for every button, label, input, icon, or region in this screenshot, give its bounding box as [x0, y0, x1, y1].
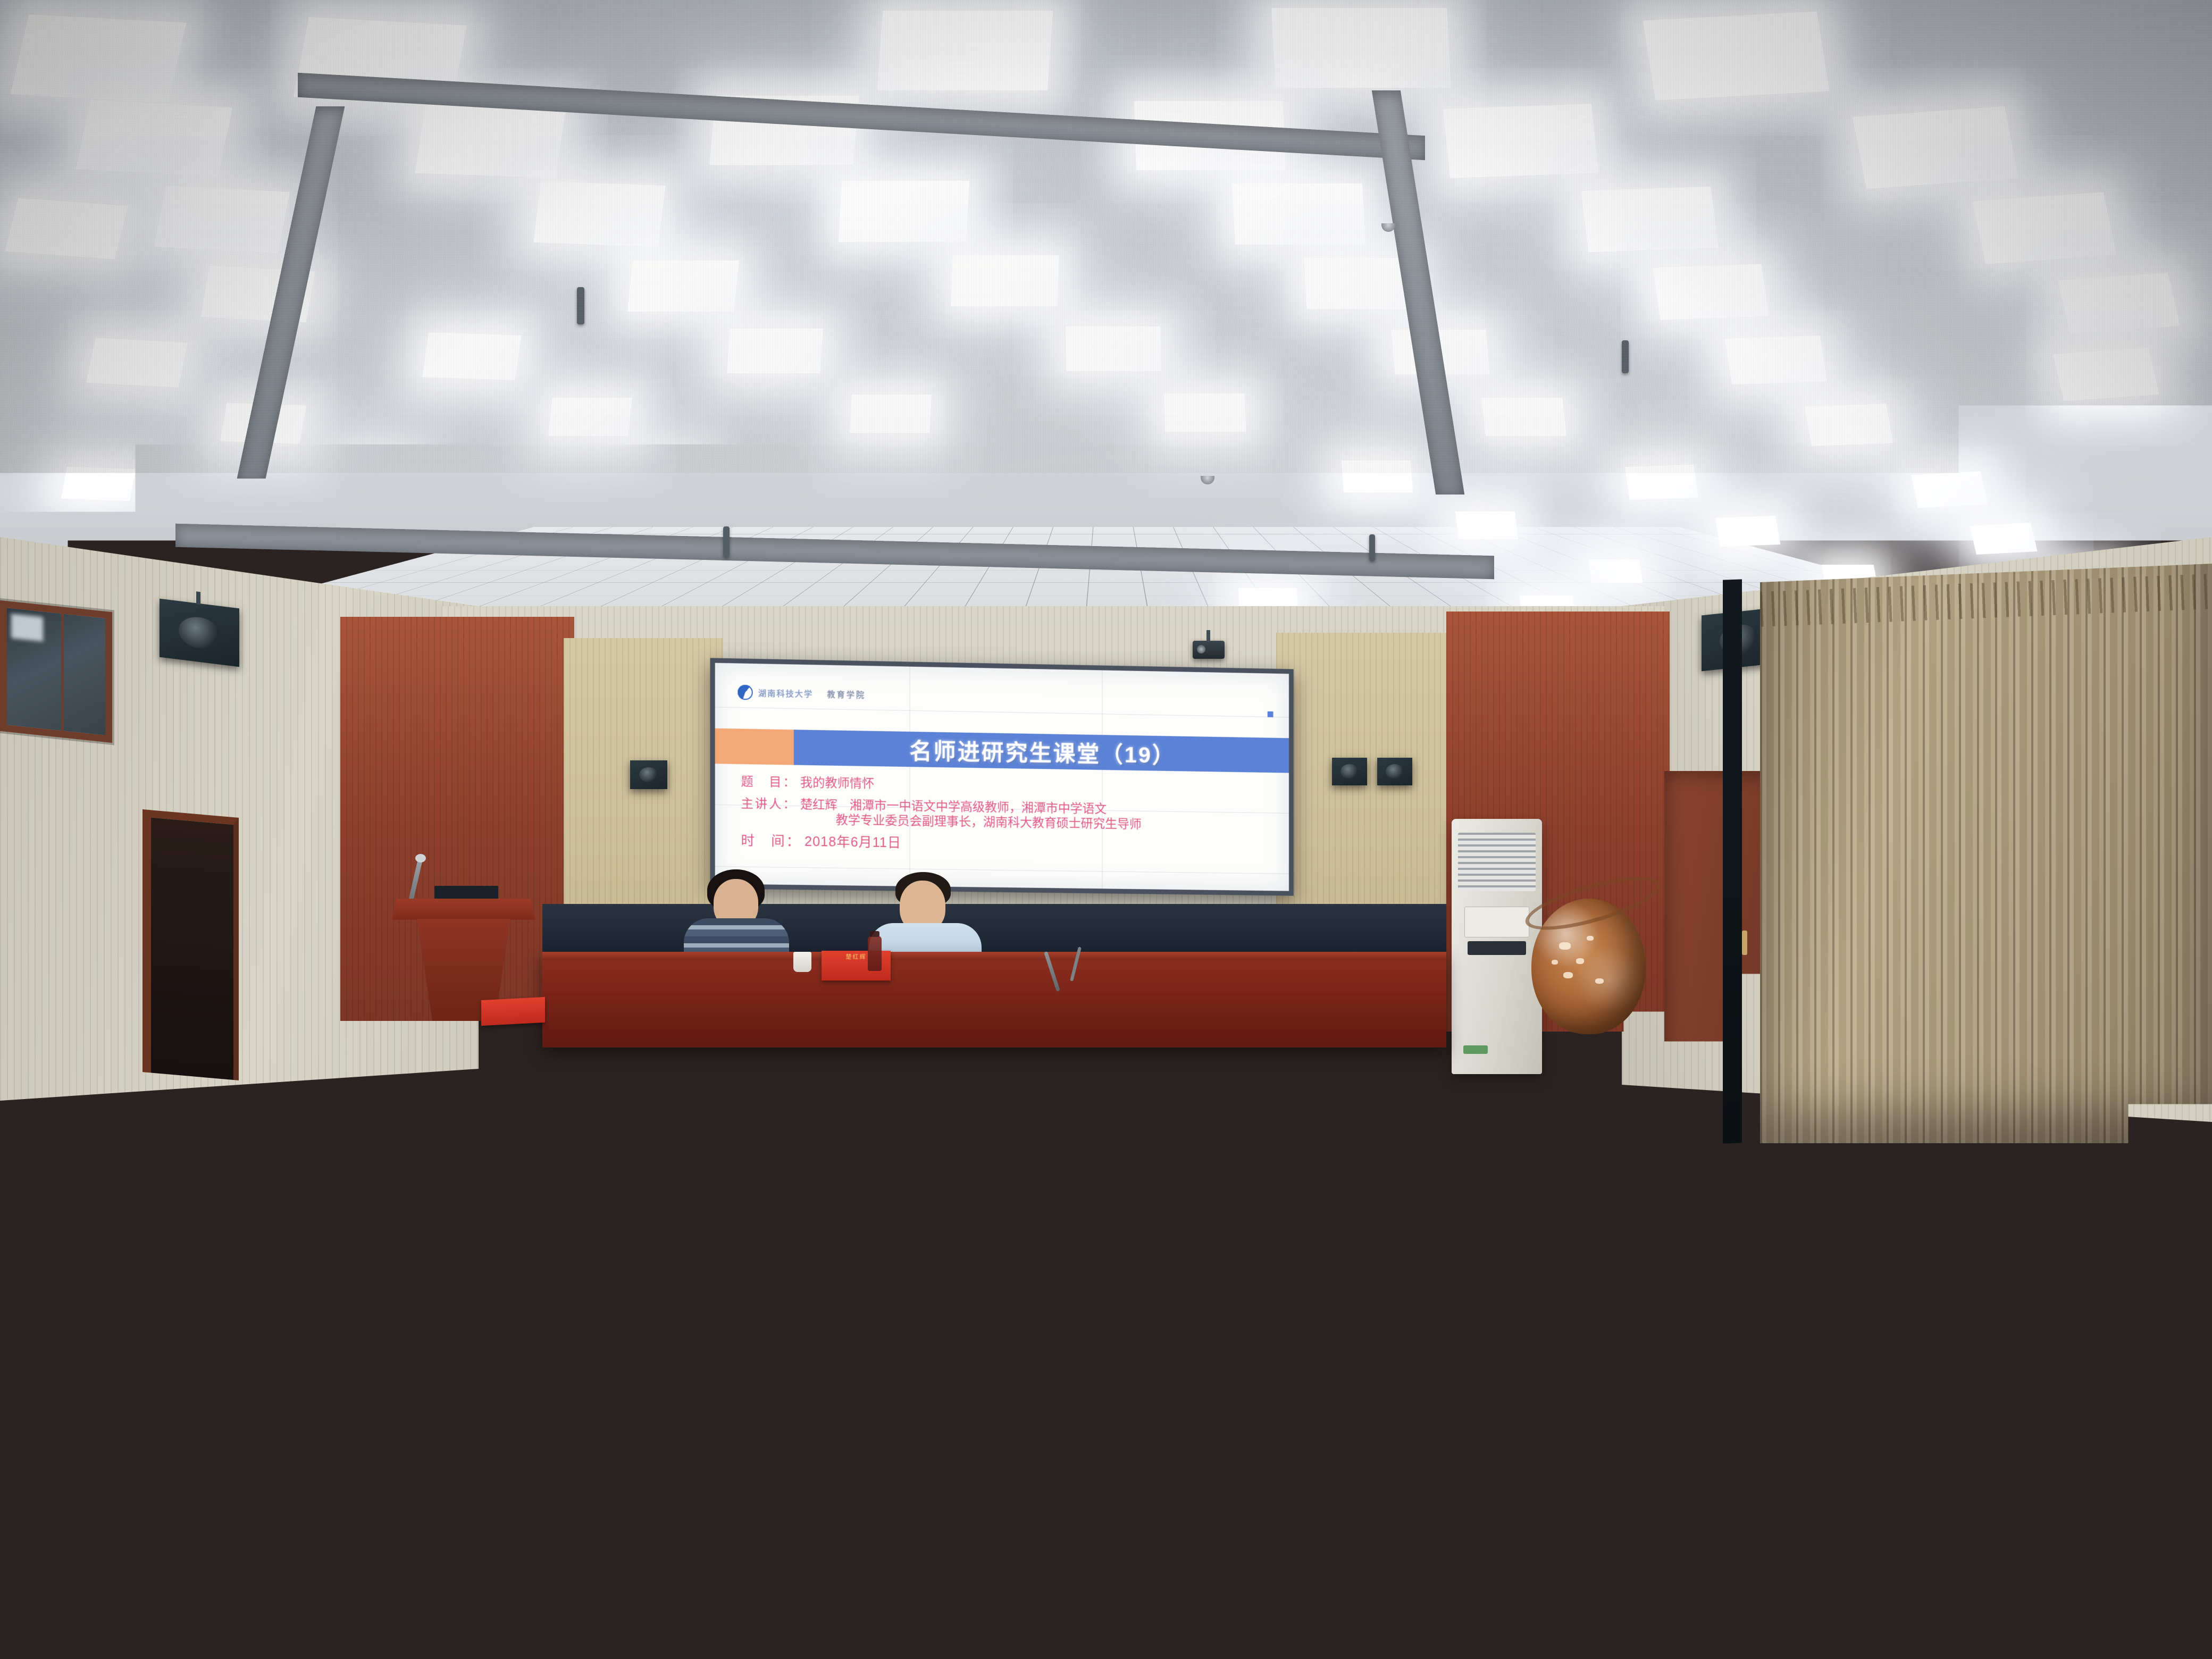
- student: [125, 974, 176, 1035]
- stage-speaker-right-b: [1377, 758, 1412, 785]
- ceiling-lamp: [1970, 523, 2037, 555]
- ceiling-sprinkler-icon: [577, 287, 584, 324]
- ceiling-lamp: [548, 398, 632, 436]
- chair-back: [1218, 1521, 1468, 1607]
- ceiling-lamp: [727, 329, 823, 373]
- student: [1882, 1199, 1987, 1334]
- student: [1590, 1194, 1690, 1326]
- ceiling-lamp: [1455, 512, 1518, 539]
- student: [335, 1093, 416, 1200]
- ceiling-lamp: [5, 198, 128, 259]
- ceiling-lamp: [86, 338, 188, 387]
- slide-speaker-label: 主讲人：: [741, 796, 797, 812]
- chair-back: [1000, 1259, 1159, 1318]
- ceiling-lamp: [1342, 460, 1413, 492]
- student: [1372, 1100, 1451, 1204]
- slide-row-speaker: 主讲人： 楚红辉 湘潭市一中语文中学高级教师，湘潭市中学语文 教学专业委员会副理…: [741, 796, 1273, 834]
- stage-speaker-right-a: [1332, 758, 1367, 785]
- chair-back: [872, 1519, 1122, 1605]
- projection-screen-frame: 湖南科技大学 教育学院 名师进研究生课堂（19） 题 目： 我的教师情怀 主讲人…: [710, 658, 1294, 895]
- ceiling-projector: [1193, 641, 1225, 659]
- student: [154, 1191, 253, 1322]
- ceiling-lamp: [2058, 273, 2180, 334]
- student: [1247, 1094, 1327, 1201]
- projection-screen: 湖南科技大学 教育学院 名师进研究生课堂（19） 题 目： 我的教师情怀 主讲人…: [715, 663, 1289, 891]
- student: [2021, 1202, 2127, 1339]
- student: [213, 971, 266, 1034]
- ceiling-sprinkler-icon: [1369, 534, 1375, 561]
- chair-back: [1702, 1261, 1861, 1321]
- slide-title-text: 名师进研究生课堂（19）: [909, 733, 1176, 769]
- ceiling-lamp: [61, 467, 136, 501]
- ceiling-lamp: [951, 255, 1059, 306]
- student: [1186, 1188, 1288, 1322]
- chair-back: [532, 1516, 782, 1602]
- curtain-valance: [1759, 574, 2212, 627]
- ceiling-lamp: [1625, 465, 1698, 500]
- student: [468, 1186, 570, 1320]
- slide-time-label: 时 间：: [741, 833, 801, 850]
- student: [37, 968, 93, 1032]
- student: [760, 968, 814, 1032]
- ceiling-lamp: [877, 11, 1053, 90]
- ceiling-lamp: [1588, 559, 1643, 583]
- student: [1154, 967, 1207, 1032]
- microphone-head-icon: [415, 854, 426, 862]
- ceiling-lamp: [423, 332, 522, 380]
- slide-row-topic: 题 目： 我的教师情怀: [741, 774, 1273, 797]
- student-foreground-center: [202, 1436, 425, 1659]
- stage-speaker-left: [630, 760, 667, 789]
- ceiling-lamp: [10, 14, 186, 103]
- ceiling-sprinkler-icon: [723, 526, 730, 557]
- student: [1353, 966, 1407, 1032]
- bucket-hat: [1967, 1022, 2026, 1060]
- ceiling-lamp: [850, 395, 932, 433]
- student: [1319, 1192, 1419, 1324]
- ceiling-lamp: [1715, 516, 1781, 547]
- water-bottle: [1141, 1274, 1154, 1313]
- slide-title-band: 名师进研究生课堂（19）: [794, 730, 1289, 773]
- student: [1393, 1308, 1532, 1491]
- wall-speaker-left: [160, 599, 239, 667]
- slide-institution-logo: 湖南科技大学 教育学院: [738, 685, 866, 702]
- slide-row-time: 时 间： 2018年6月11日: [741, 833, 1273, 856]
- ceiling-lamp: [1164, 393, 1246, 432]
- student: [1117, 1097, 1196, 1203]
- student-tan-bucket-hat: [1874, 1024, 1943, 1115]
- ceiling-lamp: [1643, 11, 1829, 100]
- ceiling-lamp: [1805, 404, 1893, 446]
- student: [298, 967, 351, 1030]
- slide-university-name: 湖南科技大学: [758, 687, 813, 699]
- ceiling-lamp: [533, 181, 665, 247]
- student-prada-tee: [829, 1303, 973, 1489]
- chair-back: [266, 1255, 425, 1313]
- student: [989, 1092, 1071, 1200]
- bucket-hat: [1880, 1015, 1936, 1052]
- ceiling-lamp: [1725, 336, 1828, 384]
- student: [27, 1186, 128, 1319]
- ceiling-lamp: [2053, 348, 2159, 401]
- student-foreground-left: [0, 1404, 181, 1659]
- student: [1765, 1099, 1845, 1204]
- slide-topic-label: 题 目：: [741, 774, 797, 790]
- slide-title-accent-block: [715, 728, 794, 765]
- audience-seating: [0, 936, 2212, 1659]
- student: [90, 1095, 170, 1200]
- student: [1638, 1101, 1715, 1204]
- ceiling-lamp: [1066, 326, 1161, 371]
- student: [1510, 1095, 1590, 1201]
- ceiling-lamp: [1271, 8, 1451, 88]
- slide-time-value: 2018年6月11日: [805, 834, 1273, 857]
- slide-speaker-value: 楚红辉 湘潭市一中语文中学高级教师，湘潭市中学语文 教学专业委员会副理事长，湖南…: [800, 797, 1273, 833]
- ceiling-lamp: [1911, 472, 1988, 508]
- student: [1255, 969, 1308, 1034]
- student-foreground-far-right: [1755, 1414, 1978, 1659]
- ceiling-lamp: [1853, 106, 2018, 189]
- ceiling-lamp: [627, 261, 739, 312]
- student: [622, 1095, 702, 1201]
- ceiling-lamp: [296, 558, 350, 582]
- ceiling-lamp: [1232, 183, 1365, 245]
- ceiling-lamp: [1581, 187, 1718, 253]
- slide-speaker-line2: 教学专业委员会副理事长，湖南科大教育硕士研究生导师: [800, 811, 1273, 833]
- student: [1063, 963, 1119, 1029]
- student: [1898, 1104, 1978, 1209]
- ceiling-lamp: [338, 464, 410, 496]
- student: [792, 1184, 896, 1320]
- slide-school-name: 教育学院: [827, 688, 866, 700]
- ceiling-lamp: [1972, 192, 2116, 264]
- student: [1452, 1188, 1554, 1322]
- student: [845, 970, 898, 1033]
- slide-topic-value: 我的教师情怀: [800, 775, 1273, 797]
- student: [1074, 1311, 1210, 1491]
- ceiling-lamp: [1653, 264, 1769, 320]
- projector-lens-icon: [1197, 645, 1205, 653]
- ceiling-lamp: [624, 460, 694, 492]
- lecture-hall-photo: 湖南科技大学 教育学院 名师进研究生课堂（19） 题 目： 我的教师情怀 主讲人…: [0, 0, 2212, 1659]
- student: [263, 1029, 330, 1111]
- ceiling-lamp: [415, 104, 566, 178]
- slide-body: 题 目： 我的教师情怀 主讲人： 楚红辉 湘潭市一中语文中学高级教师，湘潭市中学…: [741, 774, 1273, 863]
- ceiling-lamp: [154, 186, 290, 253]
- left-wall-window: [0, 600, 112, 743]
- student-foreground-right: [1521, 1430, 1749, 1659]
- ceiling-lamp: [76, 100, 233, 177]
- student: [601, 1190, 701, 1322]
- university-crest-icon: [738, 685, 752, 700]
- lectern-monitor: [434, 886, 498, 901]
- student: [213, 1101, 290, 1203]
- student: [2037, 1107, 2119, 1214]
- ac-panel: [1464, 907, 1529, 937]
- ac-grille: [1458, 833, 1536, 891]
- slide-corner-marker: [1268, 711, 1273, 717]
- ceiling-sprinkler-icon: [1622, 340, 1629, 373]
- ceiling-lamp: [1443, 104, 1599, 178]
- ceiling-lamp: [839, 181, 969, 242]
- slide-title-row: 名师进研究生课堂（19）: [715, 728, 1289, 773]
- ceiling-lamp: [1481, 398, 1566, 436]
